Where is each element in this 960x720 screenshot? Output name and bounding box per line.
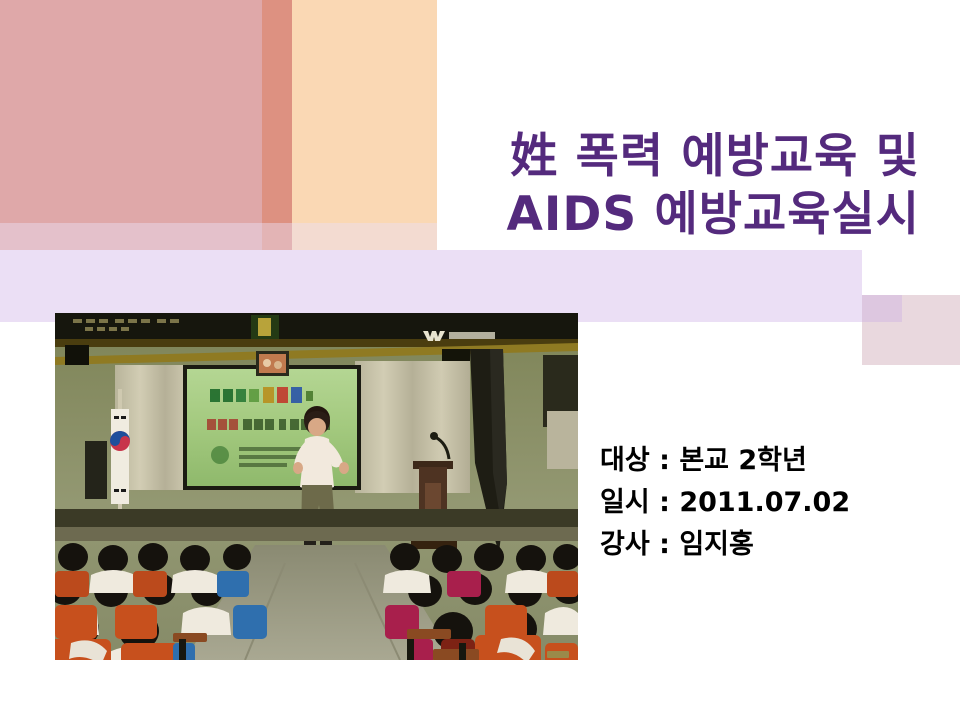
detail-value-date: 2011.07.02 (679, 487, 850, 518)
slide-title: 姓 폭력 예방교육 및 AIDS 예방교육실시 (300, 128, 920, 244)
decor-salmon-stripe (262, 0, 292, 250)
detail-separator: : (659, 529, 670, 560)
detail-separator: : (659, 445, 670, 476)
detail-label-date: 일시 (600, 487, 650, 518)
decor-pink-block (0, 0, 262, 250)
decor-lavender-band (0, 250, 862, 322)
detail-row-audience: 대상 : 본교 2학년 (600, 440, 930, 482)
detail-row-date: 일시 : 2011.07.02 (600, 482, 930, 524)
detail-label-audience: 대상 (600, 445, 650, 476)
detail-list: 대상 : 본교 2학년 일시 : 2011.07.02 강사 : 임지홍 (600, 440, 930, 566)
slide-title-line-1: 姓 폭력 예방교육 및 (300, 128, 920, 186)
slide-canvas: 姓 폭력 예방교육 및 AIDS 예방교육실시 (0, 0, 960, 720)
detail-row-instructor: 강사 : 임지홍 (600, 524, 930, 566)
detail-value-instructor: 임지홍 (679, 529, 754, 560)
slide-title-line-2: AIDS 예방교육실시 (300, 186, 920, 244)
detail-value-audience: 본교 2학년 (679, 445, 807, 476)
auditorium-photo (55, 313, 578, 660)
detail-label-instructor: 강사 (600, 529, 650, 560)
decor-rose-overlap-square (862, 295, 902, 322)
detail-separator: : (659, 487, 670, 518)
